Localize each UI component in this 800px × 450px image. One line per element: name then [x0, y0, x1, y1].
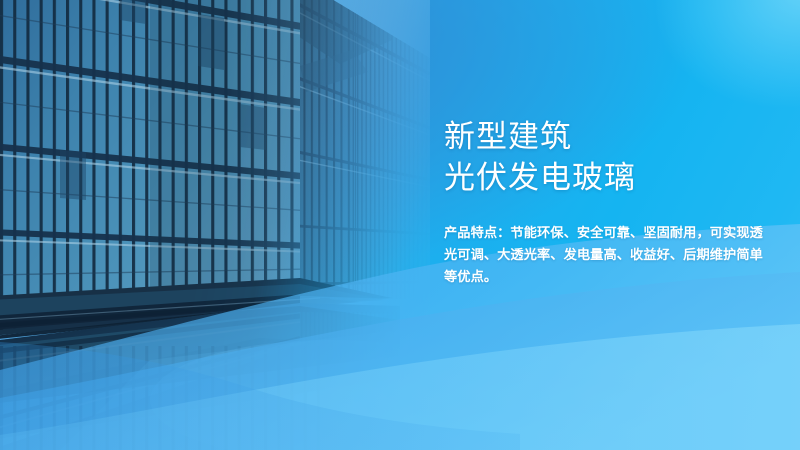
building-photo — [0, 0, 430, 450]
product-banner: 新型建筑 光伏发电玻璃 产品特点：节能环保、安全可靠、坚固耐用，可实现透光可调、… — [0, 0, 800, 450]
copy-block: 新型建筑 光伏发电玻璃 产品特点：节能环保、安全可靠、坚固耐用，可实现透光可调、… — [444, 116, 764, 288]
headline-line-1: 新型建筑 — [444, 116, 764, 157]
headline-line-2: 光伏发电玻璃 — [444, 157, 764, 198]
product-description: 产品特点：节能环保、安全可靠、坚固耐用，可实现透光可调、大透光率、发电量高、收益… — [444, 222, 764, 288]
